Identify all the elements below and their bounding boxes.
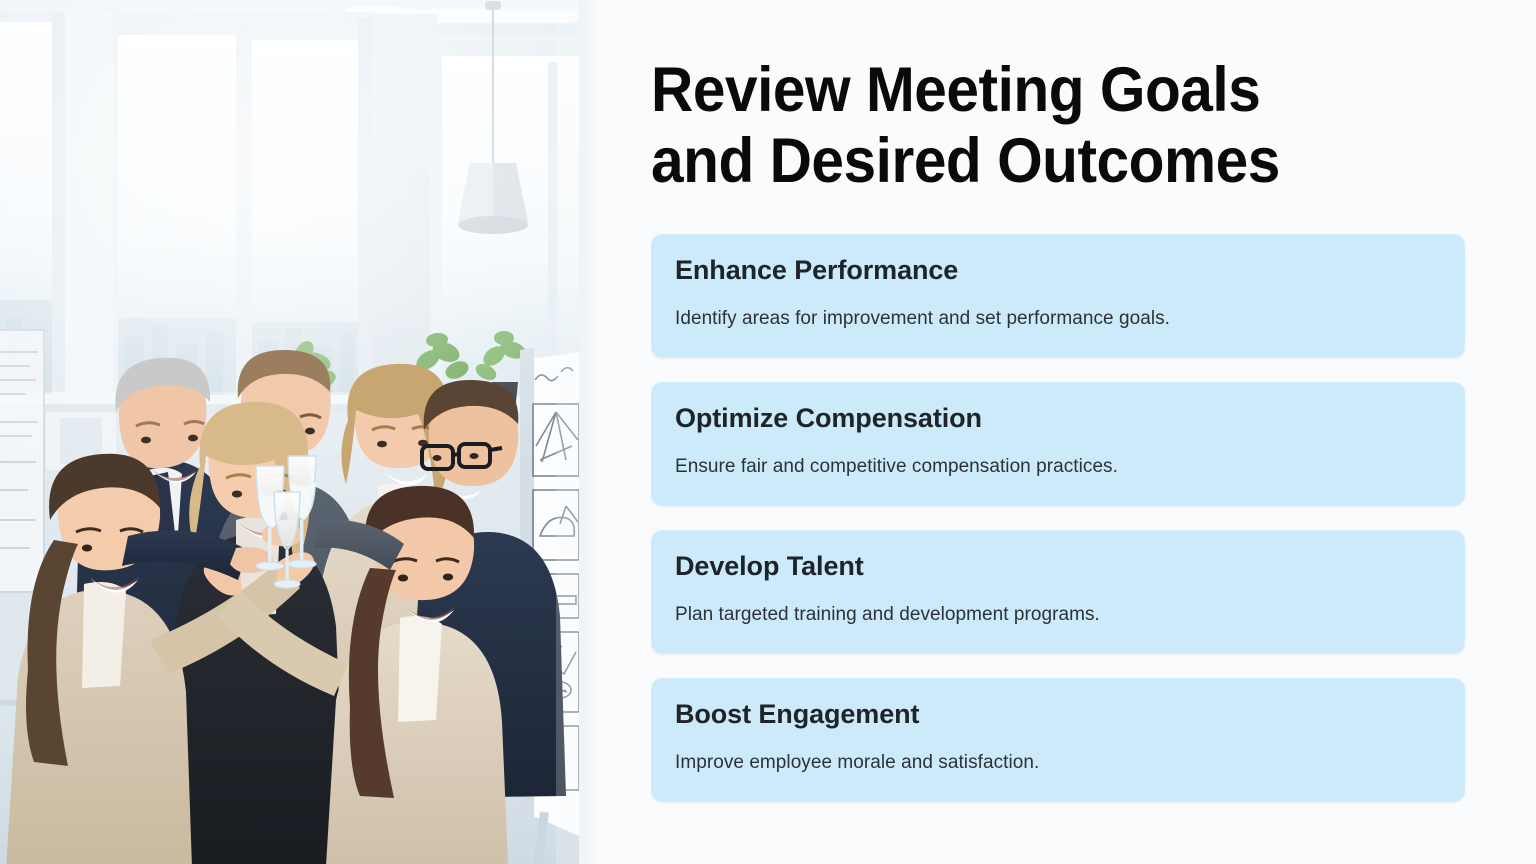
goal-card-description: Identify areas for improvement and set p… [675, 307, 1441, 332]
goal-card-description: Plan targeted training and development p… [675, 603, 1441, 628]
content-panel: Review Meeting Goals and Desired Outcome… [579, 0, 1536, 864]
goal-card-title: Boost Engagement [675, 698, 1441, 730]
goal-card-boost-engagement[interactable]: Boost Engagement Improve employee morale… [651, 678, 1465, 802]
goal-card-description: Ensure fair and competitive compensation… [675, 455, 1441, 480]
goal-card-description: Improve employee morale and satisfaction… [675, 751, 1441, 776]
page-title: Review Meeting Goals and Desired Outcome… [651, 55, 1358, 197]
slide: Review Meeting Goals and Desired Outcome… [0, 0, 1536, 864]
goal-card-enhance-performance[interactable]: Enhance Performance Identify areas for i… [651, 234, 1465, 358]
goal-card-title: Enhance Performance [675, 254, 1441, 286]
goal-card-optimize-compensation[interactable]: Optimize Compensation Ensure fair and co… [651, 382, 1465, 506]
goal-card-develop-talent[interactable]: Develop Talent Plan targeted training an… [651, 530, 1465, 654]
goals-card-list: Enhance Performance Identify areas for i… [651, 234, 1465, 802]
photo-illustration [0, 0, 579, 864]
goal-card-title: Optimize Compensation [675, 402, 1441, 434]
team-celebration-photo [0, 0, 579, 864]
goal-card-title: Develop Talent [675, 550, 1441, 582]
